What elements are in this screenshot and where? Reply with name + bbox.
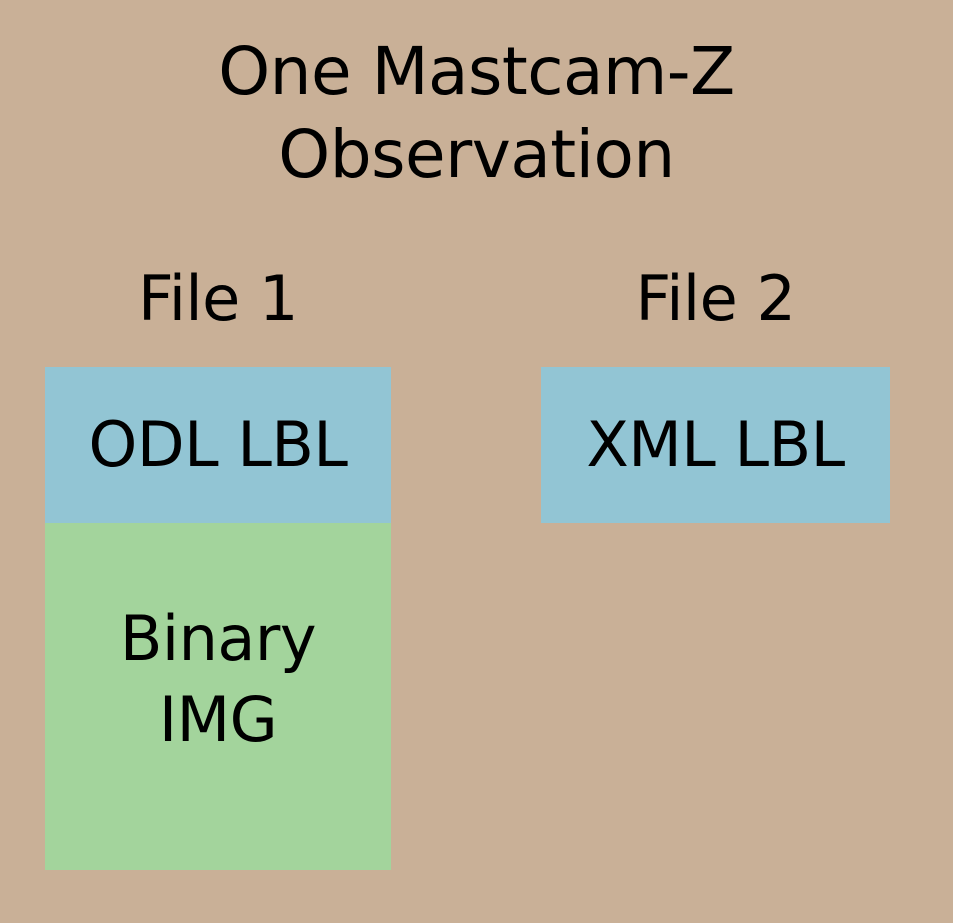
diagram-canvas: One Mastcam-Z Observation File 1 ODL LBL… <box>0 0 953 923</box>
xml-lbl-box: XML LBL <box>541 367 890 523</box>
binary-img-box-label: Binary IMG <box>120 599 316 760</box>
odl-lbl-box: ODL LBL <box>45 367 391 523</box>
odl-lbl-box-label: ODL LBL <box>89 405 348 486</box>
binary-img-box: Binary IMG <box>45 523 391 870</box>
file-2-heading: File 2 <box>541 268 890 330</box>
diagram-title: One Mastcam-Z Observation <box>0 30 953 196</box>
xml-lbl-box-label: XML LBL <box>586 405 844 486</box>
file-1-heading: File 1 <box>45 268 391 330</box>
